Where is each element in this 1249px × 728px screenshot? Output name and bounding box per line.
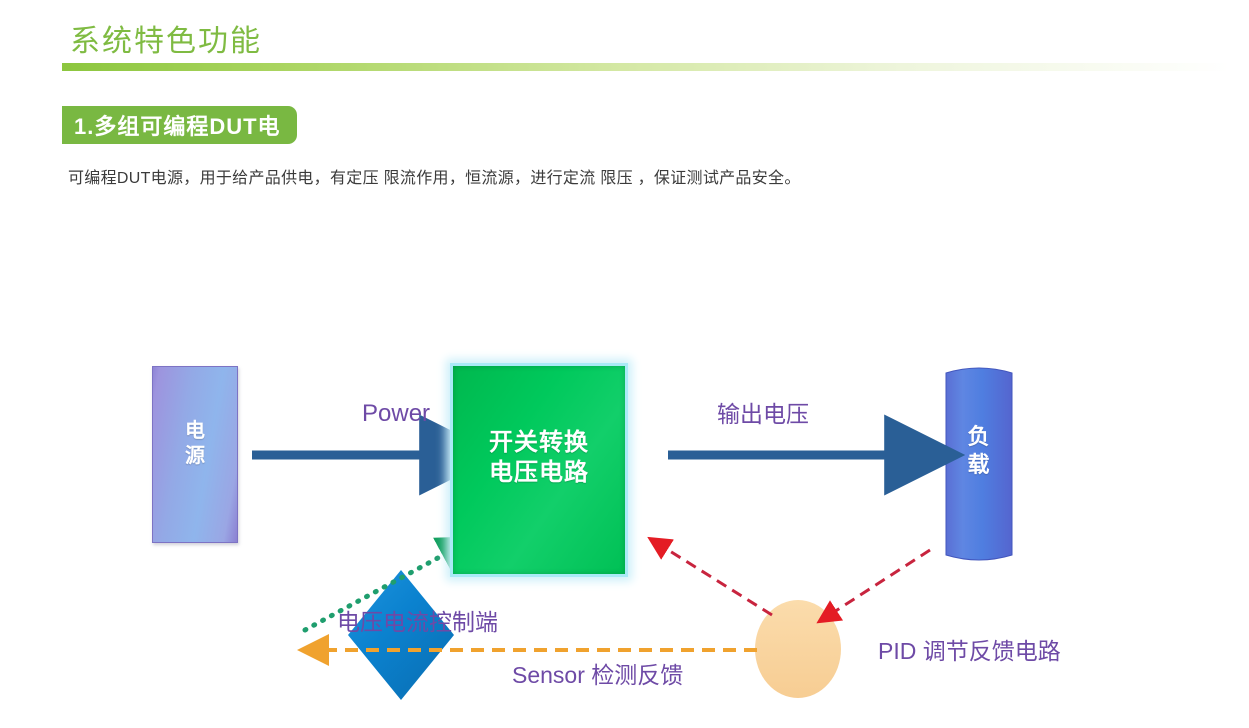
- section-description: 可编程DUT电源，用于给产品供电，有定压 限流作用，恒流源，进行定流 限压 ，保…: [68, 164, 801, 188]
- node-power-source-line1: 电: [153, 419, 237, 444]
- arrow-pid-to-converter: [665, 548, 772, 615]
- label-pid-feedback-circuit: PID 调节反馈电路: [878, 632, 1061, 666]
- arrow-load-to-pid: [834, 550, 930, 612]
- label-power: Power: [362, 400, 430, 428]
- section-badge: 1.多组可编程DUT电: [62, 106, 297, 144]
- section-badge-label: 1.多组可编程DUT电: [74, 109, 281, 141]
- pid-ellipse-shape: [755, 600, 841, 698]
- block-diagram: 电 源 开关转换 电压电路 负 载 Power 输出电压 电压电流控制端 Sen…: [140, 345, 1140, 715]
- node-power-source-label: 电 源: [153, 419, 237, 469]
- node-switching-converter: 开关转换 电压电路: [450, 363, 628, 577]
- node-switching-converter-label: 开关转换 电压电路: [453, 428, 625, 488]
- node-power-source: 电 源: [152, 366, 238, 543]
- node-converter-line2: 电压电路: [453, 458, 625, 488]
- node-power-source-line2: 源: [153, 444, 237, 469]
- label-voltage-current-control: 电压电流控制端: [337, 603, 498, 637]
- node-load-line2: 载: [938, 451, 1020, 479]
- node-converter-line1: 开关转换: [453, 428, 625, 458]
- node-load-line1: 负: [938, 423, 1020, 451]
- label-output-voltage: 输出电压: [717, 395, 809, 429]
- title-underline-rule: [62, 63, 1230, 71]
- page-title: 系统特色功能: [70, 16, 262, 60]
- node-load-label: 负 载: [938, 423, 1020, 478]
- node-load: 负 载: [938, 373, 1020, 555]
- label-sensor-feedback: Sensor 检测反馈: [512, 656, 683, 690]
